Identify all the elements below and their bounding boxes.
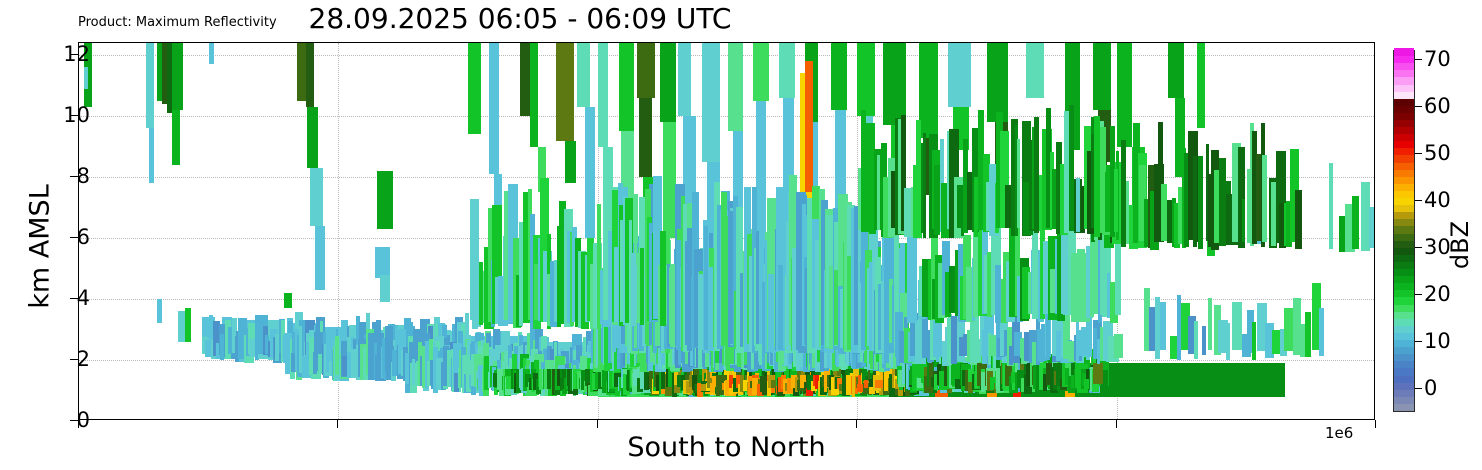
reflectivity-column — [1197, 43, 1205, 128]
colorbar-segment — [1394, 368, 1414, 376]
reflectivity-column — [948, 43, 971, 107]
reflectivity-column — [639, 98, 652, 177]
x-tick-mark — [597, 420, 598, 428]
reflectivity-column — [1226, 323, 1230, 360]
reflectivity-column — [875, 380, 883, 388]
colorbar-segment — [1394, 91, 1414, 99]
reflectivity-column — [577, 43, 590, 107]
reflectivity-column — [84, 67, 88, 88]
reflectivity-column — [565, 141, 575, 184]
colorbar-segment — [1394, 98, 1414, 106]
reflectivity-column — [640, 248, 644, 325]
colorbar-segment — [1394, 219, 1414, 227]
y-tick-label: 8 — [77, 164, 90, 188]
x-axis-offset-text: 1e6 — [1325, 424, 1353, 442]
colorbar-segment — [1394, 261, 1414, 269]
colorbar-segment — [1394, 403, 1414, 411]
reflectivity-column — [923, 133, 926, 238]
gridline-horizontal — [79, 177, 1374, 178]
colorbar-tick-mark — [1415, 200, 1422, 201]
y-tick-label: 4 — [77, 286, 90, 310]
x-tick-mark — [78, 420, 79, 428]
colorbar-segment — [1394, 283, 1414, 291]
reflectivity-column — [1114, 169, 1118, 232]
reflectivity-column — [335, 336, 339, 375]
reflectivity-column — [779, 43, 795, 98]
reflectivity-column — [1115, 240, 1121, 315]
reflectivity-column — [1168, 43, 1184, 98]
reflectivity-column — [185, 308, 190, 342]
colorbar-segment — [1394, 212, 1414, 220]
colorbar-tick-label: 70 — [1424, 47, 1451, 71]
colorbar-segment — [1394, 325, 1414, 333]
colorbar-tick-mark — [1415, 294, 1422, 295]
colorbar-segment — [1394, 304, 1414, 312]
colorbar-segment — [1394, 240, 1414, 248]
colorbar-segment — [1394, 290, 1414, 298]
colorbar-tick-mark — [1415, 153, 1422, 154]
y-axis-label: km AMSL — [25, 97, 56, 397]
reflectivity-column — [1319, 308, 1324, 357]
reflectivity-column — [530, 43, 538, 147]
reflectivity-column — [824, 375, 828, 391]
colorbar-segment — [1394, 389, 1414, 397]
reflectivity-column — [310, 168, 323, 226]
reflectivity-column — [660, 231, 666, 326]
reflectivity-column — [1093, 43, 1111, 110]
reflectivity-column — [412, 359, 416, 385]
colorbar-segment — [1394, 183, 1414, 191]
colorbar-segment — [1394, 233, 1414, 241]
reflectivity-column — [1305, 312, 1311, 357]
y-tick-label: 2 — [77, 347, 90, 371]
colorbar-segment — [1394, 148, 1414, 156]
reflectivity-column — [1155, 297, 1160, 359]
colorbar-segment — [1394, 347, 1414, 355]
colorbar-segment — [1394, 339, 1414, 347]
colorbar-segment — [1394, 205, 1414, 213]
colorbar-segment — [1394, 48, 1414, 56]
reflectivity-column — [1161, 184, 1167, 241]
colorbar-segment — [1394, 162, 1414, 170]
colorbar-segment — [1394, 63, 1414, 71]
reflectivity-column — [598, 43, 608, 147]
reflectivity-column — [857, 43, 875, 116]
colorbar-segment — [1394, 84, 1414, 92]
plot-area — [78, 42, 1375, 420]
x-tick-mark — [856, 420, 857, 428]
colorbar-tick-label: 0 — [1424, 376, 1437, 400]
colorbar-segment — [1394, 56, 1414, 64]
reflectivity-column — [172, 43, 182, 110]
reflectivity-column — [1026, 43, 1044, 98]
colorbar-segment — [1394, 382, 1414, 390]
reflectivity-column — [864, 380, 868, 388]
y-tick-label: 10 — [63, 103, 90, 127]
colorbar-segment — [1394, 141, 1414, 149]
colorbar-segment — [1394, 176, 1414, 184]
colorbar-segment — [1394, 354, 1414, 362]
radar-cross-section-figure: 28.09.2025 06:05 - 06:09 UTC Product: Ma… — [0, 0, 1482, 470]
colorbar-segment — [1394, 105, 1414, 113]
reflectivity-column — [753, 43, 769, 101]
reflectivity-column — [1242, 199, 1245, 241]
x-tick-mark — [1116, 420, 1117, 428]
reflectivity-column — [275, 334, 278, 361]
reflectivity-column — [912, 258, 916, 313]
colorbar-tick-label: 50 — [1424, 141, 1451, 165]
colorbar-label: dBZ — [1446, 165, 1474, 325]
reflectivity-column — [146, 43, 154, 128]
colorbar-segment — [1394, 276, 1414, 284]
reflectivity-column — [380, 275, 390, 302]
reflectivity-column — [307, 107, 317, 168]
colorbar-segment — [1394, 297, 1414, 305]
y-tick-label: 12 — [63, 42, 90, 66]
reflectivity-column — [614, 247, 618, 322]
colorbar-segment — [1394, 254, 1414, 262]
product-subtitle: Product: Maximum Reflectivity — [78, 15, 277, 30]
reflectivity-column — [377, 171, 393, 229]
reflectivity-column — [702, 43, 720, 162]
reflectivity-column — [375, 247, 391, 277]
reflectivity-column — [1160, 302, 1166, 349]
reflectivity-column — [315, 226, 325, 290]
colorbar-segment — [1394, 396, 1414, 404]
reflectivity-column — [1114, 334, 1123, 358]
reflectivity-column — [1295, 190, 1302, 249]
x-tick-mark — [1375, 420, 1376, 428]
reflectivity-column — [883, 43, 906, 125]
reflectivity-column — [149, 128, 154, 183]
colorbar-tick-mark — [1415, 388, 1422, 389]
colorbar-segment — [1394, 361, 1414, 369]
reflectivity-column — [489, 43, 499, 174]
colorbar-segment — [1394, 155, 1414, 163]
colorbar-segment — [1394, 226, 1414, 234]
reflectivity-column — [1017, 139, 1020, 228]
reflectivity-column — [1194, 321, 1198, 359]
reflectivity-column — [1262, 155, 1267, 242]
colorbar-segment — [1394, 119, 1414, 127]
reflectivity-column — [1076, 178, 1080, 232]
colorbar-segment — [1394, 311, 1414, 319]
colorbar-gradient — [1393, 50, 1415, 412]
colorbar-segment — [1394, 332, 1414, 340]
reflectivity-column — [1198, 156, 1203, 248]
reflectivity-column — [1352, 196, 1359, 249]
colorbar-tick-mark — [1415, 247, 1422, 248]
colorbar-segment — [1394, 318, 1414, 326]
colorbar-segment — [1394, 70, 1414, 78]
reflectivity-column — [1202, 326, 1206, 355]
reflectivity-column — [619, 43, 635, 131]
reflectivity-column — [157, 299, 162, 323]
reflectivity-column — [660, 43, 676, 122]
reflectivity-column — [1252, 322, 1256, 360]
reflectivity-column — [728, 43, 744, 131]
reflectivity-column — [209, 43, 214, 64]
x-tick-mark — [337, 420, 338, 428]
reflectivity-column — [1208, 298, 1212, 350]
reflectivity-column — [1232, 302, 1242, 350]
reflectivity-column — [1034, 117, 1039, 233]
colorbar-tick-mark — [1415, 59, 1422, 60]
reflectivity-column — [1093, 363, 1103, 384]
colorbar-tick-label: 10 — [1424, 329, 1451, 353]
colorbar-segment — [1394, 197, 1414, 205]
reflectivity-column — [987, 43, 1008, 122]
reflectivity-column — [1064, 111, 1068, 233]
colorbar-segment — [1394, 169, 1414, 177]
reflectivity-column — [220, 334, 223, 361]
colorbar-segment — [1394, 190, 1414, 198]
reflectivity-column — [556, 43, 574, 141]
reflectivity-column — [519, 222, 523, 327]
reflectivity-column — [468, 43, 481, 134]
colorbar-segment — [1394, 268, 1414, 276]
reflectivity-column — [306, 43, 314, 107]
reflectivity-column — [284, 293, 292, 308]
reflectivity-column — [585, 107, 595, 238]
reflectivity-column — [1284, 308, 1293, 351]
colorbar-segment — [1394, 112, 1414, 120]
reflectivity-column — [1193, 156, 1197, 247]
colorbar-tick-label: 60 — [1424, 94, 1451, 118]
reflectivity-column — [172, 110, 180, 165]
reflectivity-column — [981, 372, 985, 392]
colorbar-segment — [1394, 127, 1414, 135]
colorbar-segment — [1394, 247, 1414, 255]
reflectivity-column — [608, 231, 612, 325]
y-tick-label: 6 — [77, 225, 90, 249]
colorbar-tick-mark — [1415, 341, 1422, 342]
colorbar-tick-mark — [1415, 106, 1422, 107]
reflectivity-column — [805, 61, 813, 192]
colorbar-segment — [1394, 77, 1414, 85]
reflectivity-column — [678, 43, 691, 116]
reflectivity-column — [831, 43, 847, 110]
reflectivity-column — [1329, 163, 1333, 249]
reflectivity-column — [1117, 43, 1133, 147]
colorbar-segment — [1394, 134, 1414, 142]
reflectivity-column — [637, 43, 655, 98]
colorbar-segment — [1394, 375, 1414, 383]
x-axis-label: South to North — [78, 432, 1375, 463]
reflectivity-column — [919, 43, 937, 138]
colorbar — [1393, 50, 1415, 412]
reflectivity-column — [936, 335, 940, 361]
reflectivity-column — [1369, 207, 1375, 248]
